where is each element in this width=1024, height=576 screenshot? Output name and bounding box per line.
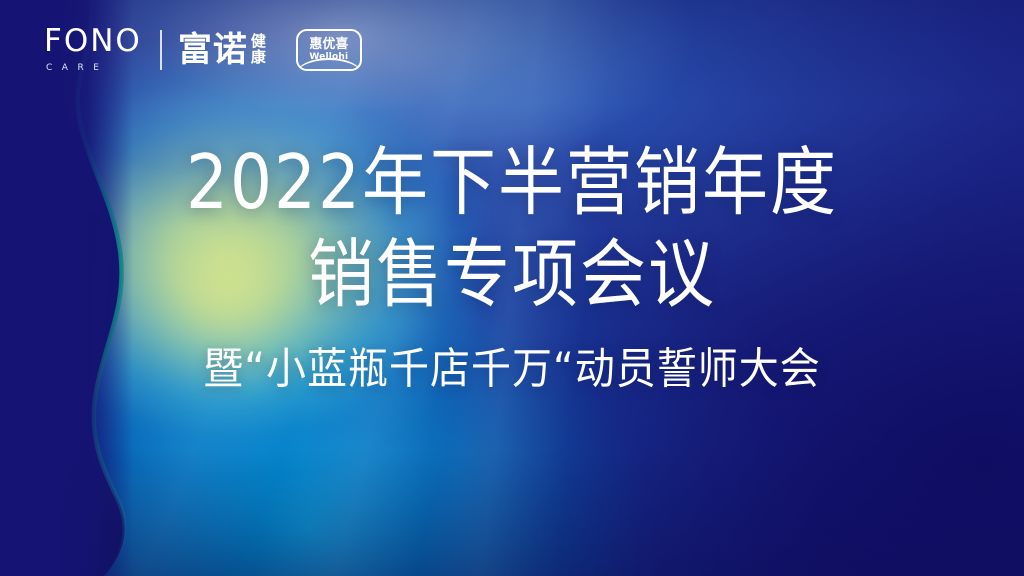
fono-care-subtext: CARE: [46, 64, 108, 73]
title-line-2: 销售专项会议: [0, 238, 1024, 313]
presentation-slide: FONO CARE 富诺 健 康 惠优喜 Wellohi 2022年下半营销年度…: [0, 0, 1024, 576]
fono-wordmark: FONO: [44, 26, 142, 57]
chinese-brand-logo: 富诺 健 康: [178, 33, 266, 67]
wellohi-swoosh-icon: [296, 58, 362, 71]
wellohi-name-cn: 惠优喜: [309, 38, 348, 51]
logo-divider: [160, 30, 162, 70]
title-line-1: 2022年下半营销年度: [0, 146, 1024, 221]
subtitle-line: 暨“小蓝瓶千店千万“动员誓师大会: [0, 348, 1024, 391]
title-block: 2022年下半营销年度 销售专项会议 暨“小蓝瓶千店千万“动员誓师大会: [0, 146, 1024, 388]
brand-suffix-stack: 健 康: [251, 33, 266, 66]
brand-suffix-char-1: 健: [251, 33, 266, 49]
brand-logo-bar: FONO CARE 富诺 健 康 惠优喜 Wellohi: [44, 26, 362, 73]
brand-suffix-char-2: 康: [251, 49, 266, 65]
fono-care-logo: FONO CARE: [44, 26, 142, 73]
wellohi-partner-badge: 惠优喜 Wellohi: [296, 29, 362, 71]
brand-name-cn: 富诺: [178, 33, 248, 67]
